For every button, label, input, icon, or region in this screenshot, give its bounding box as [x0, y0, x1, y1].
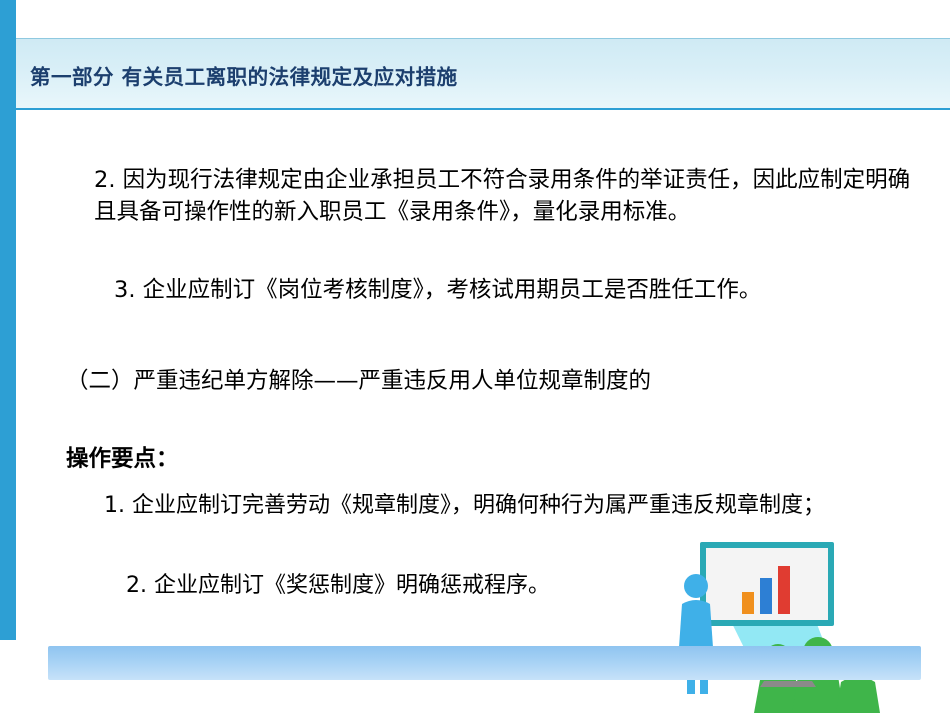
footer-left-spacer — [0, 640, 48, 713]
presentation-audience-illustration — [660, 540, 950, 713]
chart-bar-medium-icon — [760, 578, 772, 614]
slide-header-band: 第一部分 有关员工离职的法律规定及应对措施 — [16, 38, 950, 110]
chart-bar-short-icon — [742, 592, 754, 614]
header-top-rule — [16, 38, 950, 39]
body-section-heading-two: （二）严重违纪单方解除——严重违反用人单位规章制度的 — [66, 366, 936, 398]
chart-bar-tall-icon — [778, 566, 790, 614]
key-points-label: 操作要点： — [66, 444, 179, 476]
page-title: 第一部分 有关员工离职的法律规定及应对措施 — [30, 60, 458, 90]
slide-footer-band — [48, 646, 921, 680]
body-paragraph-item-3: 3. 企业应制订《岗位考核制度》，考核试用期员工是否胜任工作。 — [114, 275, 944, 307]
key-point-item-1: 1. 企业应制订完善劳动《规章制度》，明确何种行为属严重违反规章制度； — [104, 490, 934, 521]
body-paragraph-item-2: 2. 因为现行法律规定由企业承担员工不符合录用条件的举证责任，因此应制定明确且具… — [94, 165, 924, 229]
left-accent-bar — [0, 0, 16, 713]
